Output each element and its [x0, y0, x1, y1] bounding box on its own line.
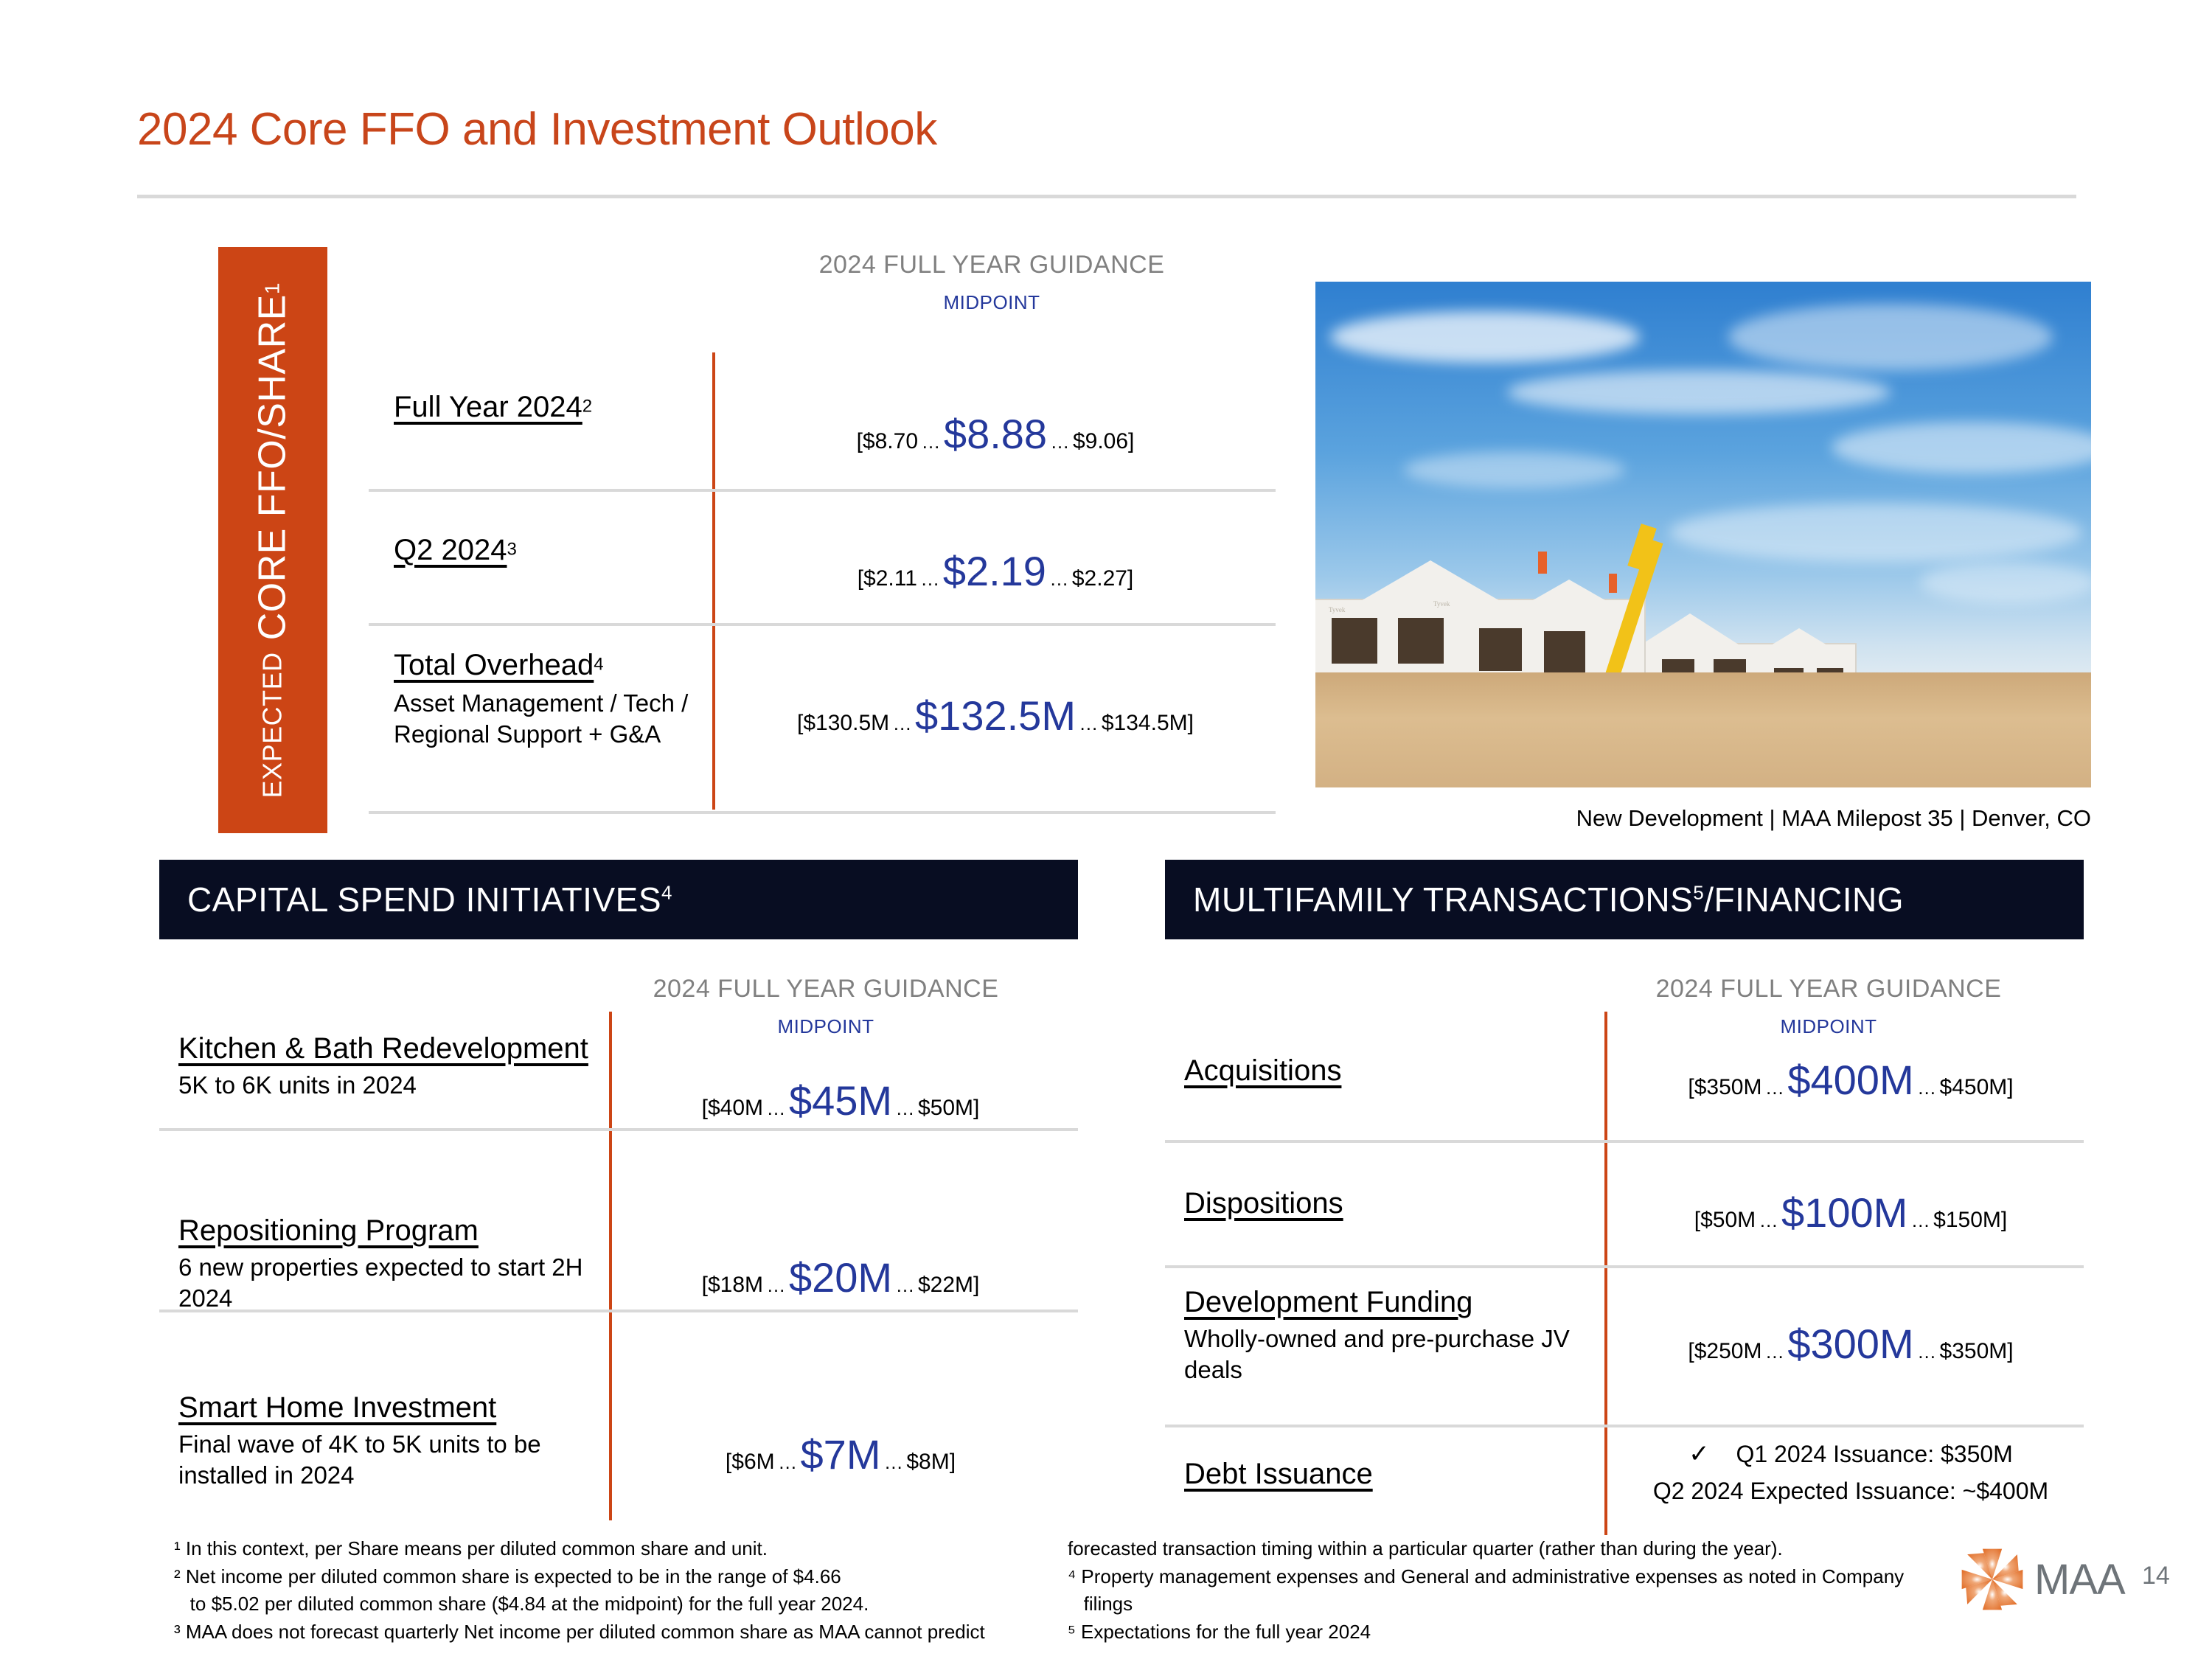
transactions-value-low: [$250M — [1688, 1339, 1761, 1363]
transactions-value-high: $350M] — [1940, 1339, 2014, 1363]
capital-value-dots-right: … — [896, 1274, 915, 1296]
transactions-value-high: $450M] — [1940, 1075, 2014, 1099]
transactions-midpoint-label: MIDPOINT — [1622, 1015, 2035, 1038]
capital-spend-banner-text: CAPITAL SPEND INITIATIVES — [187, 880, 661, 919]
ffo-value-mid: $2.19 — [943, 548, 1046, 594]
footnote-item: ² Net income per diluted common share is… — [174, 1563, 1059, 1591]
capital-value-low: [$6M — [726, 1450, 775, 1474]
capital-value-dots-right: … — [896, 1097, 915, 1119]
transactions-row-divider-1 — [1165, 1140, 2084, 1143]
ffo-value-dots-left: … — [893, 712, 912, 734]
capital-value-high: $50M] — [918, 1096, 979, 1120]
capital-value-low: [$18M — [702, 1273, 763, 1297]
capital-value-dots-right: … — [884, 1451, 903, 1473]
ffo-value-dots-left: … — [920, 568, 939, 590]
transactions-value-dots-right: … — [1911, 1209, 1930, 1231]
ffo-row-value: [$2.11 … $2.19 … $2.27] — [774, 547, 1217, 595]
capital-guidance-title: 2024 FULL YEAR GUIDANCE — [619, 975, 1032, 1004]
footnotes-right: forecasted transaction timing within a p… — [1068, 1535, 1952, 1646]
transactions-value-dots-right: … — [1917, 1077, 1936, 1099]
capital-value-mid: $20M — [789, 1254, 892, 1301]
ffo-banner-superscript: 1 — [261, 283, 285, 295]
transactions-value-dots-left: … — [1759, 1209, 1778, 1231]
title-divider — [137, 195, 2076, 198]
capital-row-smart-home: Smart Home Investment Final wave of 4K t… — [178, 1390, 606, 1491]
ffo-value-low: [$130.5M — [797, 711, 889, 735]
transactions-guidance-header: 2024 FULL YEAR GUIDANCE MIDPOINT — [1622, 975, 2035, 1038]
ffo-row-superscript: 2 — [582, 397, 592, 417]
transactions-banner: MULTIFAMILY TRANSACTIONS5/FINANCING — [1165, 860, 2084, 939]
transactions-row-dispositions: Dispositions — [1184, 1186, 1582, 1222]
capital-row-subtitle: 6 new properties expected to start 2H 20… — [178, 1252, 606, 1314]
transactions-row-value: [$350M … $400M … $450M] — [1659, 1056, 2042, 1104]
ffo-row-divider-1 — [369, 489, 1276, 492]
ffo-value-low: [$2.11 — [858, 566, 917, 591]
transactions-value-mid: $400M — [1787, 1057, 1913, 1103]
ffo-banner-label: EXPECTED CORE FFO/SHARE1 — [218, 248, 327, 834]
capital-value-mid: $45M — [789, 1077, 892, 1124]
transactions-row-debt-issuance: Debt Issuance — [1184, 1456, 1582, 1492]
ffo-row-value: [$8.70 … $8.88 … $9.06] — [774, 410, 1217, 458]
capital-row-title: Repositioning Program — [178, 1213, 606, 1249]
transactions-row-divider-2 — [1165, 1265, 2084, 1268]
ffo-banner-large-text: CORE FFO/SHARE — [251, 294, 295, 640]
ffo-row-title: Full Year 2024 — [394, 391, 582, 423]
footnote-item: ¹ In this context, per Share means per d… — [174, 1535, 1059, 1563]
ffo-row-title: Total Overhead — [394, 649, 594, 681]
transactions-vertical-divider — [1604, 1012, 1607, 1535]
capital-spend-banner-superscript: 4 — [661, 882, 672, 904]
ffo-value-dots-left: … — [921, 431, 940, 453]
ffo-value-high: $134.5M] — [1102, 711, 1194, 735]
ffo-row-superscript: 3 — [507, 540, 516, 560]
transactions-value-mid: $100M — [1781, 1189, 1907, 1236]
capital-value-high: $8M] — [906, 1450, 956, 1474]
ffo-value-dots-right: … — [1079, 712, 1098, 734]
maa-logo: MAA — [1958, 1545, 2125, 1614]
ffo-banner-small-text: EXPECTED — [257, 652, 288, 798]
ffo-row-q2: Q2 20243 — [394, 532, 517, 568]
capital-value-dots-left: … — [778, 1451, 797, 1473]
debt-issuance-line1: Q1 2024 Issuance: $350M — [1736, 1441, 2012, 1467]
transactions-row-title: Development Funding — [1184, 1284, 1582, 1321]
ffo-vertical-divider — [712, 352, 715, 810]
footnote-item: to $5.02 per diluted common share ($4.84… — [174, 1590, 1059, 1618]
transactions-value-dots-left: … — [1765, 1077, 1784, 1099]
debt-issuance-details: ✓ Q1 2024 Issuance: $350M Q2 2024 Expect… — [1630, 1439, 2072, 1505]
ffo-row-superscript: 4 — [594, 655, 603, 675]
ffo-value-mid: $132.5M — [915, 692, 1076, 739]
capital-spend-banner: CAPITAL SPEND INITIATIVES4 — [159, 860, 1078, 939]
transactions-value-dots-left: … — [1765, 1340, 1784, 1363]
ffo-row-full-year: Full Year 20242 — [394, 389, 592, 425]
maa-logo-text: MAA — [2034, 1555, 2125, 1604]
footnotes-left: ¹ In this context, per Share means per d… — [174, 1535, 1059, 1646]
ffo-guidance-title: 2024 FULL YEAR GUIDANCE — [796, 251, 1187, 279]
capital-row-value: [$6M … $7M … $8M] — [664, 1430, 1018, 1478]
ffo-row-title: Q2 2024 — [394, 534, 507, 566]
transactions-value-low: [$50M — [1694, 1208, 1756, 1232]
debt-issuance-title: Debt Issuance — [1184, 1456, 1582, 1492]
transactions-row-value: [$250M … $300M … $350M] — [1659, 1320, 2042, 1368]
capital-row-divider-1 — [159, 1128, 1078, 1131]
ffo-midpoint-label: MIDPOINT — [796, 291, 1187, 314]
development-photo: Tyvek Tyvek Tyvek Tyvek Tyvek Tyvek — [1315, 282, 2091, 787]
capital-spend-guidance-header: 2024 FULL YEAR GUIDANCE MIDPOINT — [619, 975, 1032, 1038]
transactions-row-title: Dispositions — [1184, 1186, 1582, 1222]
ffo-section-banner: EXPECTED CORE FFO/SHARE1 — [218, 247, 327, 833]
maa-pinwheel-icon — [1958, 1545, 2027, 1614]
transactions-banner-superscript: 5 — [1693, 882, 1704, 904]
ffo-value-mid: $8.88 — [944, 411, 1047, 457]
capital-row-title: Kitchen & Bath Redevelopment — [178, 1031, 591, 1067]
capital-row-value: [$40M … $45M … $50M] — [664, 1077, 1018, 1124]
transactions-value-dots-right: … — [1917, 1340, 1936, 1363]
capital-midpoint-label: MIDPOINT — [619, 1015, 1032, 1038]
transactions-row-divider-3 — [1165, 1425, 2084, 1427]
transactions-row-acquisitions: Acquisitions — [1184, 1053, 1582, 1089]
capital-row-title: Smart Home Investment — [178, 1390, 606, 1426]
transactions-row-development-funding: Development Funding Wholly-owned and pre… — [1184, 1284, 1582, 1385]
ffo-value-dots-right: … — [1051, 431, 1070, 453]
ffo-value-high: $9.06] — [1073, 429, 1134, 453]
transactions-value-mid: $300M — [1787, 1321, 1913, 1367]
transactions-value-low: [$350M — [1688, 1075, 1761, 1099]
photo-caption: New Development | MAA Milepost 35 | Denv… — [1315, 805, 2091, 832]
capital-value-low: [$40M — [702, 1096, 763, 1120]
capital-spend-banner-label: CAPITAL SPEND INITIATIVES4 — [187, 880, 672, 919]
page-title: 2024 Core FFO and Investment Outlook — [137, 103, 937, 156]
transactions-banner-label: MULTIFAMILY TRANSACTIONS5/FINANCING — [1193, 880, 1904, 919]
transactions-value-high: $150M] — [1933, 1208, 2007, 1232]
ffo-row-subtitle: Asset Management / Tech / Regional Suppo… — [394, 688, 711, 750]
transactions-row-title: Acquisitions — [1184, 1053, 1582, 1089]
capital-value-mid: $7M — [801, 1431, 881, 1478]
transactions-guidance-title: 2024 FULL YEAR GUIDANCE — [1622, 975, 2035, 1004]
footnote-item: forecasted transaction timing within a p… — [1068, 1535, 1952, 1563]
capital-row-subtitle: 5K to 6K units in 2024 — [178, 1070, 591, 1101]
page-number: 14 — [2142, 1562, 2170, 1590]
ffo-value-high: $2.27] — [1072, 566, 1133, 591]
transactions-row-value: [$50M … $100M … $150M] — [1659, 1189, 2042, 1237]
transactions-banner-text: MULTIFAMILY TRANSACTIONS — [1193, 880, 1693, 919]
capital-row-value: [$18M … $20M … $22M] — [664, 1253, 1018, 1301]
footnote-item: ⁵ Expectations for the full year 2024 — [1068, 1618, 1952, 1646]
transactions-banner-suffix: /FINANCING — [1704, 880, 1904, 919]
footnote-item: ⁴ Property management expenses and Gener… — [1068, 1563, 1952, 1591]
ffo-row-divider-3 — [369, 811, 1276, 814]
capital-value-high: $22M] — [918, 1273, 979, 1297]
capital-value-dots-left: … — [767, 1274, 786, 1296]
capital-vertical-divider — [609, 1012, 612, 1520]
footnote-item: ³ MAA does not forecast quarterly Net in… — [174, 1618, 1059, 1646]
ffo-row-total-overhead: Total Overhead4 Asset Management / Tech … — [394, 647, 711, 750]
ffo-row-value: [$130.5M … $132.5M … $134.5M] — [737, 692, 1253, 740]
capital-value-dots-left: … — [767, 1097, 786, 1119]
debt-issuance-line2: Q2 2024 Expected Issuance: ~$400M — [1630, 1478, 2072, 1505]
transactions-row-subtitle: Wholly-owned and pre-purchase JV deals — [1184, 1324, 1582, 1385]
footnote-item: filings — [1068, 1590, 1952, 1618]
capital-row-subtitle: Final wave of 4K to 5K units to be insta… — [178, 1429, 606, 1491]
ffo-guidance-header: 2024 FULL YEAR GUIDANCE MIDPOINT — [796, 251, 1187, 314]
ffo-value-low: [$8.70 — [857, 429, 918, 453]
check-icon: ✓ — [1688, 1440, 1710, 1468]
capital-row-kitchen-bath: Kitchen & Bath Redevelopment 5K to 6K un… — [178, 1031, 591, 1101]
ffo-value-dots-right: … — [1049, 568, 1068, 590]
capital-row-repositioning: Repositioning Program 6 new properties e… — [178, 1213, 606, 1314]
ffo-row-divider-2 — [369, 623, 1276, 626]
